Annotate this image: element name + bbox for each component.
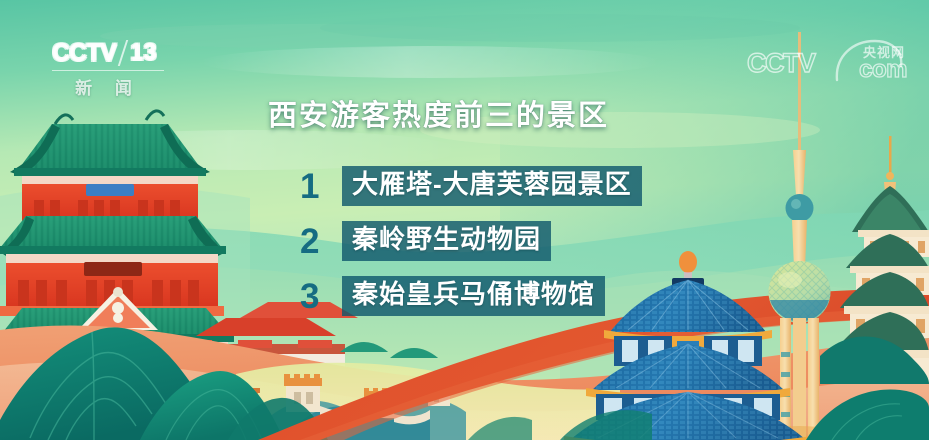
attraction-name: 大雁塔-大唐芙蓉园景区 (342, 166, 642, 205)
broadcast-graphic: CCTV 13 新 闻 CCTV 央视网 com 西安游客热度前三的景区 1 大… (0, 0, 929, 440)
rank-number: 3 (300, 279, 342, 314)
channel-number: 13 (130, 41, 157, 65)
cctv-com-watermark: CCTV 央视网 com (741, 36, 911, 86)
rank-number: 2 (300, 224, 342, 259)
channel-name-cn: 新 闻 (52, 74, 164, 99)
channel-logo-row: CCTV 13 (52, 38, 182, 68)
watermark-com-text: com (859, 56, 907, 84)
list-item: 3 秦始皇兵马俑博物馆 (300, 273, 642, 319)
cctv-wordmark: CCTV (52, 41, 116, 66)
attraction-name: 秦岭野生动物园 (342, 221, 551, 260)
logo-underline (52, 70, 164, 71)
attraction-name: 秦始皇兵马俑博物馆 (342, 276, 605, 315)
list-item: 1 大雁塔-大唐芙蓉园景区 (300, 163, 642, 209)
channel-logo-cctv13: CCTV 13 新 闻 (52, 38, 182, 100)
logo-slash-divider (118, 40, 128, 66)
watermark-cctv-text: CCTV (747, 50, 815, 77)
list-item: 2 秦岭野生动物园 (300, 218, 642, 264)
rank-number: 1 (300, 169, 342, 204)
ranking-list: 1 大雁塔-大唐芙蓉园景区 2 秦岭野生动物园 3 秦始皇兵马俑博物馆 (300, 163, 642, 328)
page-title: 西安游客热度前三的景区 (268, 92, 609, 134)
